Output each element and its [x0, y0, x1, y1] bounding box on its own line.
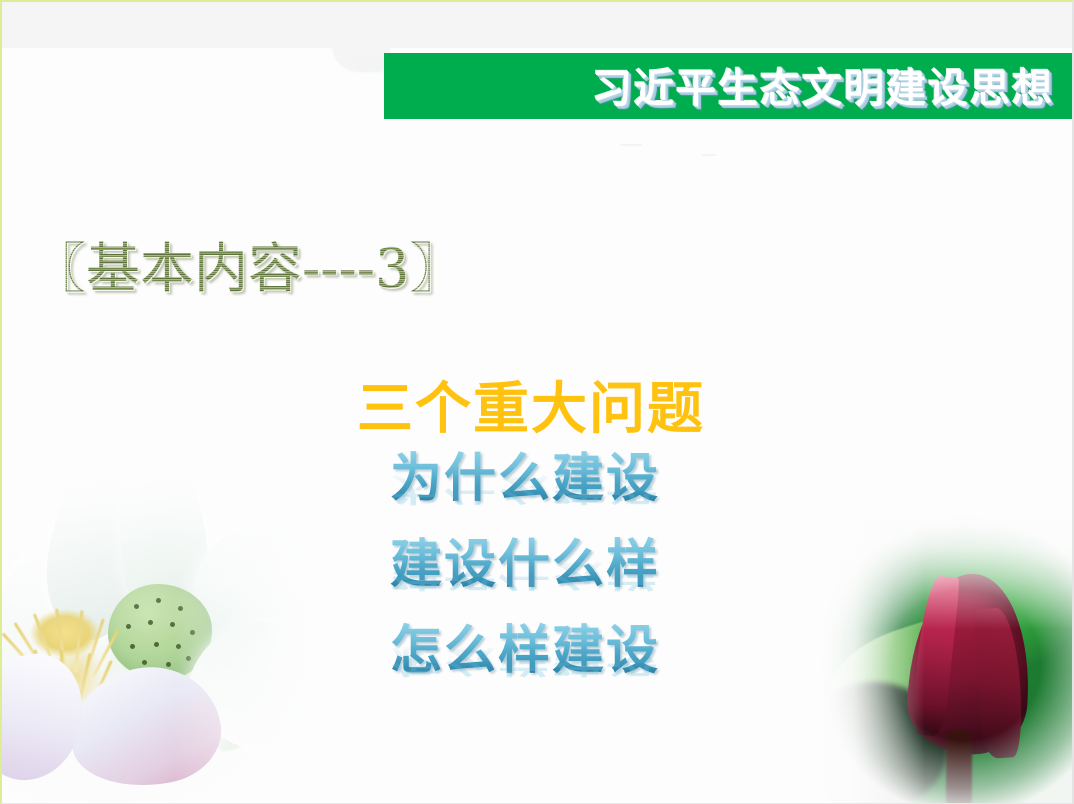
- top-decorative-band: [2, 2, 1074, 48]
- presentation-slide: 习近平生态文明建设思想: [0, 0, 1074, 804]
- rose-petal: [973, 607, 1025, 760]
- header-banner: 习近平生态文明建设思想: [384, 53, 1074, 119]
- top-band-tail-secondary: [354, 58, 388, 72]
- question-text: 为什么建设: [390, 450, 660, 508]
- lotus-petal: [109, 472, 216, 646]
- lotus-petal-pink: [0, 636, 102, 795]
- lotus-stamens: [18, 602, 130, 722]
- rose-bud-image: [818, 512, 1072, 804]
- lotus-petal: [168, 500, 322, 672]
- question-text: 怎么样建设: [390, 622, 660, 680]
- lotus-leaf: [199, 667, 322, 755]
- lotus-seed-pod: [108, 584, 212, 680]
- headline-three-major-questions: 三个重大问题: [357, 364, 705, 445]
- lotus-flower-image: [0, 472, 322, 804]
- scan-artifact: [285, 638, 295, 640]
- rose-shadow: [818, 682, 948, 804]
- lotus-petal-pink: [61, 656, 229, 798]
- question-line-3: 怎么样建设 怎么样建设: [390, 622, 660, 708]
- question-list: 为什么建设 为什么建设 建设什么样 建设什么样 怎么样建设 怎么样建设: [390, 450, 660, 708]
- question-text: 建设什么样: [390, 536, 660, 594]
- lotus-fade-overlay: [0, 472, 322, 804]
- lotus-background: [0, 472, 322, 804]
- lotus-petal: [0, 495, 156, 718]
- rose-bud: [904, 570, 1036, 758]
- section-heading: 〖基本内容----3〗: [32, 224, 463, 303]
- rose-fade-overlay: [818, 512, 1072, 804]
- rose-foliage: [818, 512, 1072, 804]
- question-line-1: 为什么建设 为什么建设: [390, 450, 660, 536]
- scan-artifact: [620, 144, 642, 146]
- rose-stem: [946, 730, 972, 804]
- rose-leaf: [818, 613, 978, 742]
- rose-petal: [910, 575, 961, 738]
- lotus-petal: [37, 472, 155, 645]
- banner-title: 习近平生态文明建设思想: [592, 56, 1054, 114]
- lotus-petal: [175, 604, 322, 770]
- question-line-2: 建设什么样 建设什么样: [390, 536, 660, 622]
- scan-artifact: [702, 154, 716, 156]
